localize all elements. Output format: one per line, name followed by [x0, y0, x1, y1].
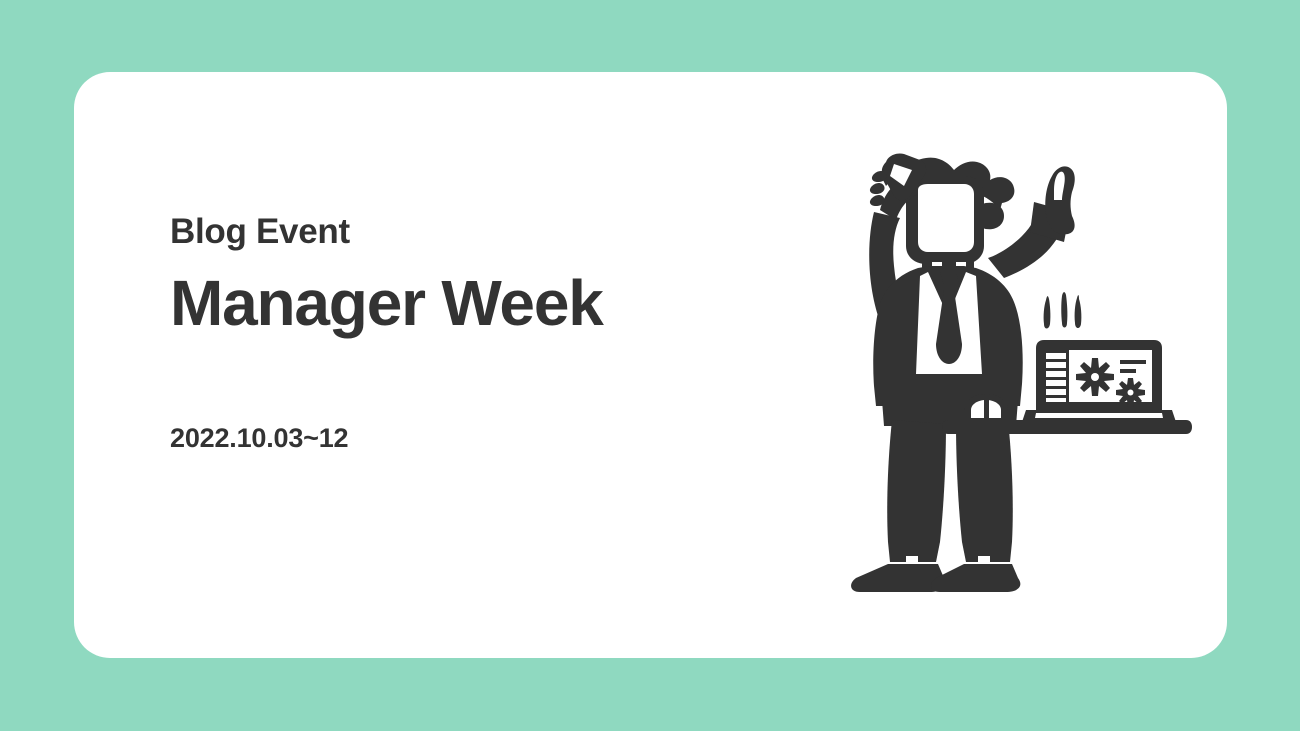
laptop	[1022, 340, 1176, 422]
motion-marks	[1044, 292, 1082, 328]
event-date-range: 2022.10.03~12	[170, 425, 790, 452]
trousers-legs	[887, 420, 1013, 562]
banner-text-block: Blog Event Manager Week 2022.10.03~12	[170, 214, 790, 452]
banner-card: Blog Event Manager Week 2022.10.03~12	[74, 72, 1227, 658]
desk-line	[942, 420, 1192, 434]
illustration-svg	[814, 138, 1194, 598]
laptop-sidebar-stripes	[1046, 350, 1069, 402]
event-banner: Blog Event Manager Week 2022.10.03~12	[0, 0, 1300, 731]
shoes	[851, 564, 1020, 592]
businessman-illustration	[814, 138, 1194, 598]
event-eyebrow-label: Blog Event	[170, 214, 790, 251]
event-title: Manager Week	[170, 271, 790, 335]
pointing-hand	[1045, 166, 1075, 234]
